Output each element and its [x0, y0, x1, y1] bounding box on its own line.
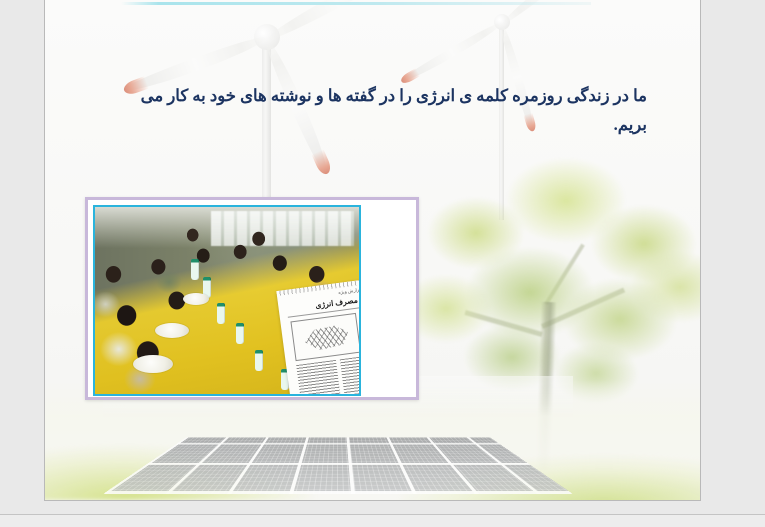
newspaper-column	[296, 360, 341, 396]
plate-icon	[133, 355, 173, 373]
bottle-icon	[255, 350, 263, 371]
slide-surface[interactable]: ما در زندگی روزمره کلمه ی انرژی را در گف…	[45, 0, 700, 500]
newspaper-column	[340, 354, 361, 396]
presentation-window: ما در زندگی روزمره کلمه ی انرژی را در گف…	[0, 0, 765, 527]
newspaper-figure	[290, 313, 361, 361]
canteen-photo[interactable]: گزارش ویژه بحران در مصرف انرژی شماره ۱	[93, 205, 361, 396]
slide-picture-frame[interactable]: گزارش ویژه بحران در مصرف انرژی شماره ۱	[85, 197, 419, 400]
plate-icon	[183, 293, 209, 305]
solar-panel-grid	[103, 437, 573, 494]
plate-icon	[155, 323, 189, 338]
newspaper-clipping: گزارش ویژه بحران در مصرف انرژی شماره ۱	[276, 272, 361, 396]
turbine-blade-icon	[264, 0, 410, 44]
status-bar: اسلاید	[0, 515, 765, 527]
slide-body-text[interactable]: ما در زندگی روزمره کلمه ی انرژی را در گف…	[107, 82, 647, 140]
slide-accent-rule	[121, 2, 591, 5]
bottle-icon	[191, 259, 199, 280]
bottle-icon	[217, 303, 225, 324]
slide-canvas[interactable]: ما در زندگی روزمره کلمه ی انرژی را در گف…	[44, 0, 701, 501]
bottle-icon	[236, 323, 244, 344]
